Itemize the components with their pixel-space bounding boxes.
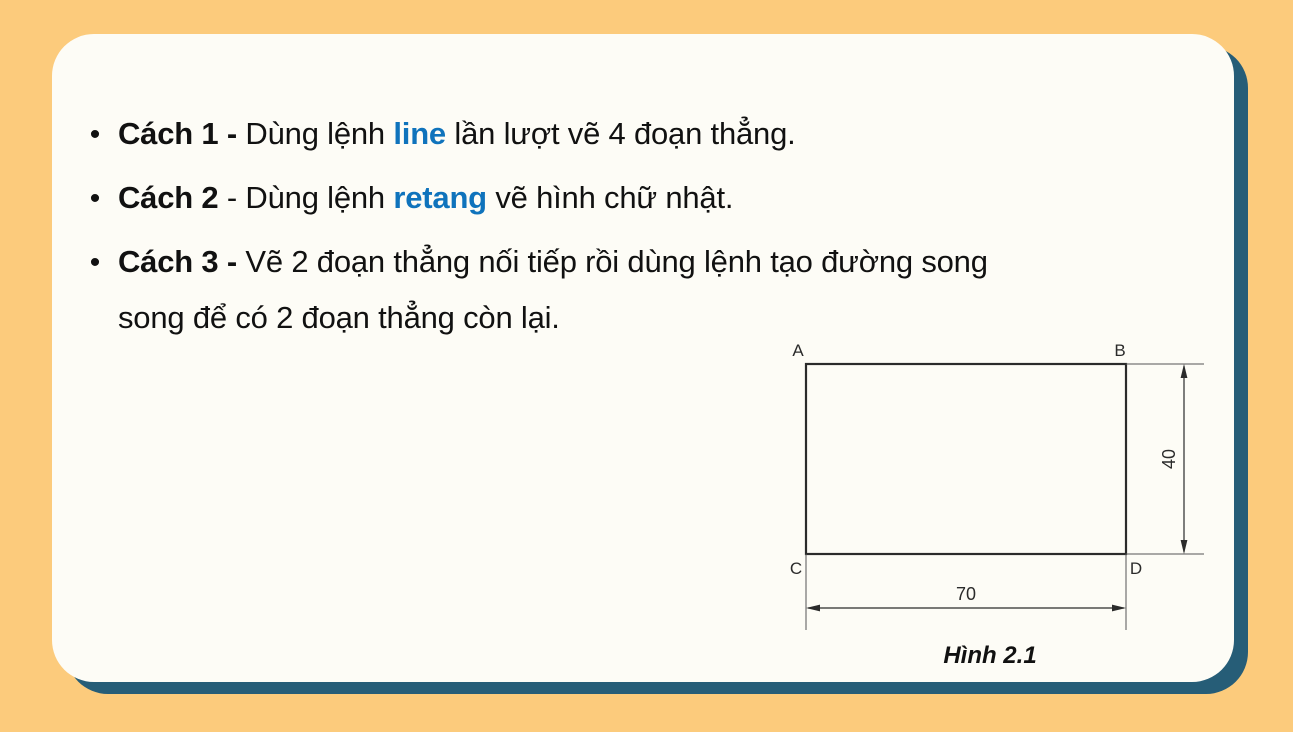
bullet-dash-3: - bbox=[218, 244, 245, 279]
bullet-dash-2: - bbox=[218, 180, 245, 215]
card-content: • Cách 1 - Dùng lệnh line lần lượt vẽ 4 … bbox=[52, 34, 1234, 682]
arrow-up-icon bbox=[1181, 364, 1188, 378]
technical-drawing: A B C D 70 40 Hình 2.1 bbox=[770, 340, 1210, 680]
content-card: • Cách 1 - Dùng lệnh line lần lượt vẽ 4 … bbox=[52, 34, 1234, 682]
bullet-dash-1: - bbox=[218, 116, 245, 151]
bullet-label-3: Cách 3 bbox=[118, 244, 218, 279]
list-item: • Cách 3 - Vẽ 2 đoạn thẳng nối tiếp rồi … bbox=[72, 240, 1212, 340]
rectangle-shape bbox=[806, 364, 1126, 554]
figure-caption: Hình 2.1 bbox=[770, 642, 1210, 670]
bullet-list: • Cách 1 - Dùng lệnh line lần lượt vẽ 4 … bbox=[72, 112, 1212, 358]
bullet-text-1: Cách 1 - Dùng lệnh line lần lượt vẽ 4 đo… bbox=[118, 112, 1212, 156]
arrow-right-icon bbox=[1112, 605, 1126, 612]
vertex-label-d: D bbox=[1130, 559, 1142, 578]
bullet-marker-icon: • bbox=[72, 176, 118, 222]
bullet-label-2: Cách 2 bbox=[118, 180, 218, 215]
bullet-text-3: Cách 3 - Vẽ 2 đoạn thẳng nối tiếp rồi dù… bbox=[118, 240, 1212, 340]
arrow-left-icon bbox=[806, 605, 820, 612]
bullet-before-2: Dùng lệnh bbox=[245, 180, 393, 215]
bullet-label-1: Cách 1 bbox=[118, 116, 218, 151]
dimension-label-height: 40 bbox=[1159, 449, 1179, 469]
bullet-after-1: lần lượt vẽ 4 đoạn thẳng. bbox=[446, 116, 796, 151]
list-item: • Cách 2 - Dùng lệnh retang vẽ hình chữ … bbox=[72, 176, 1212, 222]
dimension-label-width: 70 bbox=[956, 584, 976, 604]
bullet-after-2: vẽ hình chữ nhật. bbox=[487, 180, 733, 215]
vertex-label-c: C bbox=[790, 559, 802, 578]
bullet-second-line-3: song để có 2 đoạn thẳng còn lại. bbox=[118, 296, 1206, 340]
vertex-label-a: A bbox=[792, 341, 804, 360]
list-item: • Cách 1 - Dùng lệnh line lần lượt vẽ 4 … bbox=[72, 112, 1212, 158]
rectangle-dimension-diagram: A B C D 70 40 bbox=[770, 340, 1210, 640]
bullet-keyword-line: line bbox=[393, 116, 446, 151]
bullet-text-2: Cách 2 - Dùng lệnh retang vẽ hình chữ nh… bbox=[118, 176, 1212, 220]
bullet-marker-icon: • bbox=[72, 112, 118, 158]
vertex-label-b: B bbox=[1114, 341, 1125, 360]
bullet-marker-icon: • bbox=[72, 240, 118, 286]
slide-canvas: • Cách 1 - Dùng lệnh line lần lượt vẽ 4 … bbox=[0, 0, 1293, 732]
arrow-down-icon bbox=[1181, 540, 1188, 554]
bullet-before-1: Dùng lệnh bbox=[245, 116, 393, 151]
bullet-keyword-retang: retang bbox=[393, 180, 487, 215]
bullet-before-3: Vẽ 2 đoạn thẳng nối tiếp rồi dùng lệnh t… bbox=[245, 244, 987, 279]
